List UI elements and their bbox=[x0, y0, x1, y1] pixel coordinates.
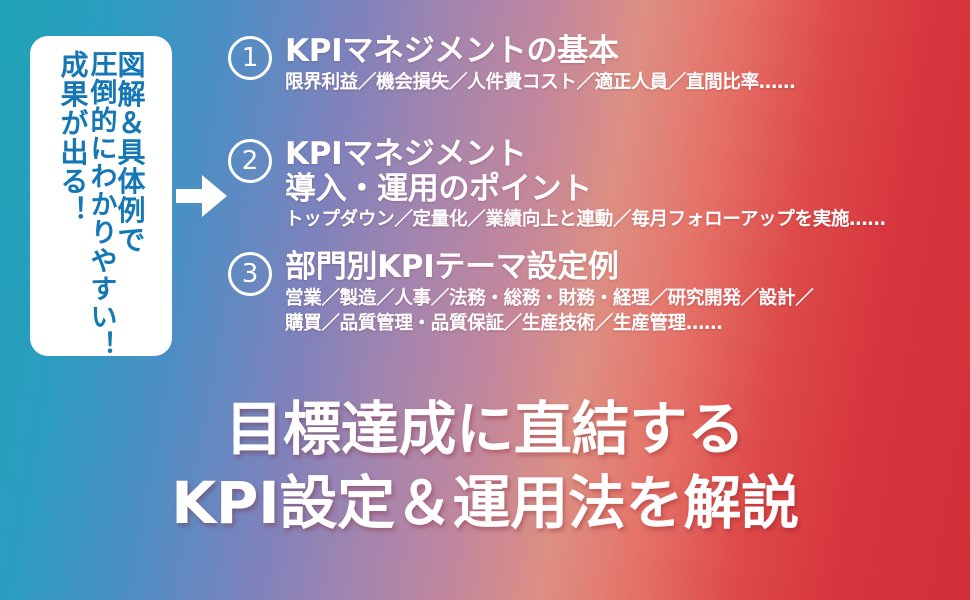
circled-number-1: 1 bbox=[228, 36, 272, 80]
headline: 目標達成に直結する KPI設定＆運用法を解説 bbox=[0, 392, 970, 540]
callout-column-3: 成果が出る！ bbox=[59, 50, 87, 225]
list-item-2-subtitle-line-1: トップダウン／定量化／業績向上と連動／毎月フォローアップを実施…… bbox=[285, 208, 886, 232]
headline-line-1: 目標達成に直結する bbox=[0, 392, 970, 466]
list-item-2-title-line-1: KPIマネジメント bbox=[285, 137, 886, 172]
callout-column-2: 圧倒的にわかりやすい！ bbox=[88, 50, 115, 359]
list-item-1-subtitle-line-1: 限界利益／機会損失／人件費コスト／適正人員／直間比率…… bbox=[285, 71, 795, 95]
list-item-2-title-line-2: 導入・運用のポイント bbox=[285, 172, 886, 207]
callout-box: 図解＆具体例で 圧倒的にわかりやすい！ 成果が出る！ bbox=[30, 36, 172, 356]
circled-number-2: 2 bbox=[228, 139, 272, 183]
list-item-1-title-line-1: KPIマネジメントの基本 bbox=[285, 34, 795, 69]
list-item-1: 1 KPIマネジメントの基本 限界利益／機会損失／人件費コスト／適正人員／直間比… bbox=[228, 34, 795, 94]
list-item-3: 3 部門別KPIテーマ設定例 営業／製造／人事／法務・総務・財務・経理／研究開発… bbox=[228, 250, 813, 336]
callout-column-1: 図解＆具体例で bbox=[116, 50, 144, 254]
arrow-right-icon bbox=[176, 172, 228, 220]
circled-number-3: 3 bbox=[228, 252, 272, 296]
list-item-3-subtitle-line-2: 購買／品質管理・品質保証／生産技術／生産管理…… bbox=[285, 312, 813, 336]
headline-line-2: KPI設定＆運用法を解説 bbox=[0, 466, 970, 540]
list-item-3-title-line-1: 部門別KPIテーマ設定例 bbox=[285, 250, 813, 285]
list-item-2: 2 KPIマネジメント 導入・運用のポイント トップダウン／定量化／業績向上と連… bbox=[228, 137, 886, 232]
promo-poster: 図解＆具体例で 圧倒的にわかりやすい！ 成果が出る！ 1 KPIマネジメントの基… bbox=[0, 0, 970, 600]
list-item-3-subtitle-line-1: 営業／製造／人事／法務・総務・財務・経理／研究開発／設計／ bbox=[285, 287, 813, 311]
